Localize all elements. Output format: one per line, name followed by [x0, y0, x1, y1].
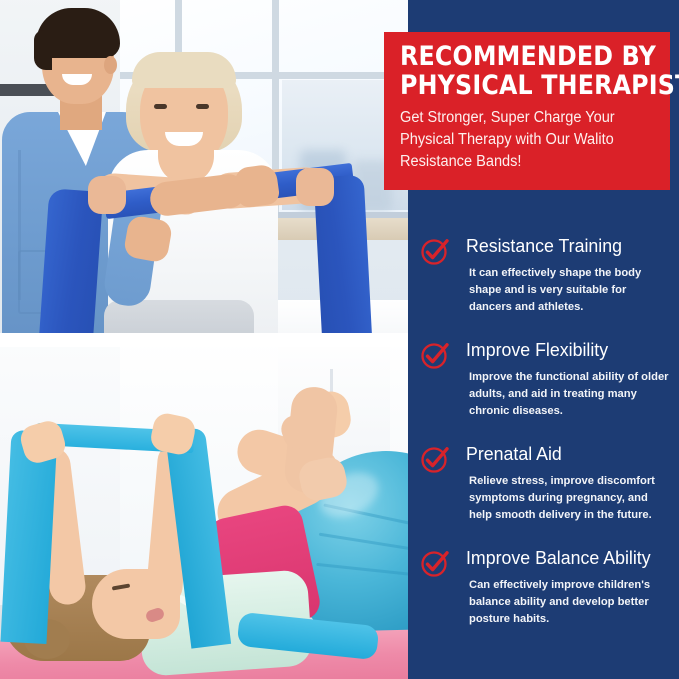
product-infographic: RECOMMENDED BY PHYSICAL THERAPIST Get St… [0, 0, 679, 679]
photo-column [0, 0, 408, 679]
check-circle-icon [420, 236, 450, 266]
headline-banner: RECOMMENDED BY PHYSICAL THERAPIST Get St… [384, 32, 670, 190]
therapist-eye [86, 52, 97, 56]
feature-body: Relieve stress, improve discomfort sympt… [469, 473, 669, 524]
feature-item-resistance-training: Resistance Training It can effectively s… [420, 234, 670, 316]
feature-item-improve-flexibility: Improve Flexibility Improve the function… [420, 338, 670, 420]
girl-stretching-on-mat-photo [0, 347, 408, 679]
therapist-hair-side [34, 30, 52, 70]
feature-heading: Prenatal Aid [466, 442, 662, 466]
woman-fringe [132, 52, 236, 88]
check-circle-icon [420, 340, 450, 370]
feature-item-improve-balance-ability: Improve Balance Ability Can effectively … [420, 546, 670, 628]
feature-body: Improve the functional ability of older … [469, 369, 669, 420]
feature-list: Resistance Training It can effectively s… [420, 234, 670, 650]
headline-line-2: PHYSICAL THERAPIST [400, 71, 625, 100]
subheadline-line-2: Physical Therapy with Our Walito [400, 129, 641, 151]
therapist-hand [233, 163, 280, 208]
feature-body: It can effectively shape the body shape … [469, 265, 669, 316]
feature-item-prenatal-aid: Prenatal Aid Relieve stress, improve dis… [420, 442, 670, 524]
feature-body: Can effectively improve children's balan… [469, 577, 669, 628]
feature-heading: Improve Flexibility [466, 338, 662, 362]
subheadline: Get Stronger, Super Charge Your Physical… [400, 107, 641, 173]
headline-line-1: RECOMMENDED BY [400, 42, 625, 71]
woman-eye [196, 104, 209, 109]
feature-heading: Resistance Training [466, 234, 662, 258]
subheadline-line-3: Resistance Bands! [400, 151, 641, 173]
woman-hand [296, 168, 334, 206]
therapist-eye [58, 54, 69, 58]
feature-heading: Improve Balance Ability [466, 546, 662, 570]
check-circle-icon [420, 548, 450, 578]
check-circle-icon [420, 444, 450, 474]
therapist-assisting-senior-woman-photo [0, 0, 408, 341]
woman-hand [88, 176, 126, 214]
subheadline-line-1: Get Stronger, Super Charge Your [400, 107, 641, 129]
therapist-ear [104, 56, 117, 74]
woman-eye [154, 104, 167, 109]
